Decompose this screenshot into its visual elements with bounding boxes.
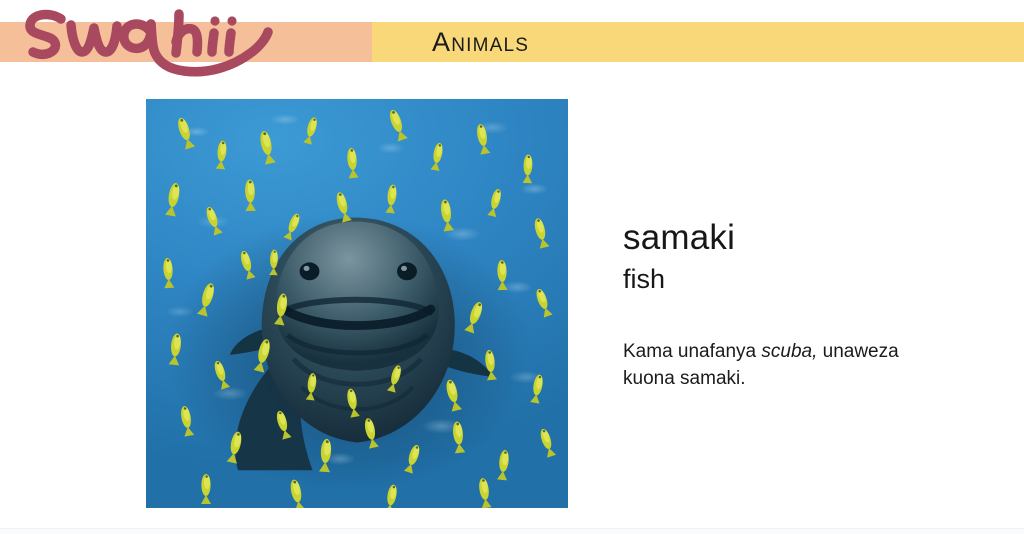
slide-root: Animals [0,0,1024,534]
vocabulary-photo [146,99,568,508]
swahili-logo[interactable] [16,0,286,78]
footer-divider [0,528,1024,534]
sentence-part-italic: scuba, [761,341,817,362]
sentence-part-before: Kama unafanya [623,341,761,362]
vocabulary-translation: fish [623,264,665,295]
photo-yellow-fish-school [146,99,568,508]
vocabulary-word: samaki [623,218,735,258]
example-sentence: Kama unafanya scuba, unaweza kuona samak… [623,338,953,392]
category-title: Animals [432,22,529,62]
